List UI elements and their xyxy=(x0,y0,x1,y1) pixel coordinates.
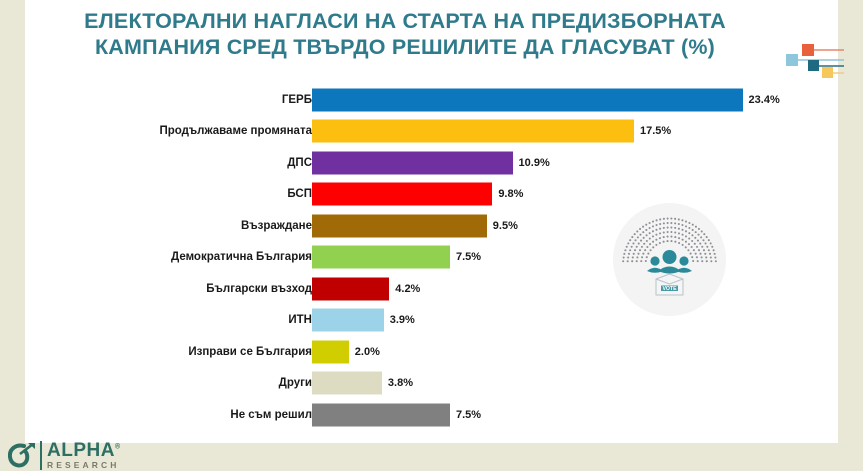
bar-row: Продължаваме промяната17.5% xyxy=(25,116,838,148)
bar-row: Български възход4.2% xyxy=(25,273,838,305)
bar-track xyxy=(312,151,513,174)
bar-category-label: Изправи се България xyxy=(188,346,312,358)
bar-value-label: 3.9% xyxy=(390,314,415,326)
bar-fill xyxy=(312,372,382,395)
bar-track xyxy=(312,183,492,206)
bar-row: Възраждане9.5% xyxy=(25,210,838,242)
bar-row: ИТН3.9% xyxy=(25,305,838,337)
bar-row: ДПС10.9% xyxy=(25,147,838,179)
bar-track xyxy=(312,214,487,237)
bar-fill xyxy=(312,88,743,111)
bar-value-label: 9.5% xyxy=(493,220,518,232)
bar-value-label: 7.5% xyxy=(456,409,481,421)
bar-value-label: 7.5% xyxy=(456,251,481,263)
bar-track xyxy=(312,277,389,300)
bar-track xyxy=(312,309,384,332)
horizontal-bar-chart: ГЕРБ23.4%Продължаваме промяната17.5%ДПС1… xyxy=(25,84,838,440)
bar-fill xyxy=(312,120,634,143)
bar-value-label: 17.5% xyxy=(640,125,671,137)
bar-value-label: 4.2% xyxy=(395,283,420,295)
page-title: ЕЛЕКТОРАЛНИ НАГЛАСИ НА СТАРТА НА ПРЕДИЗБ… xyxy=(25,8,785,60)
bar-category-label: Български възход xyxy=(206,283,312,295)
bar-value-label: 10.9% xyxy=(519,157,550,169)
logo-alpha-text: ALPHA® xyxy=(47,441,121,460)
bar-row: Демократична България7.5% xyxy=(25,242,838,274)
bar-row: БСП9.8% xyxy=(25,179,838,211)
bar-row: Други3.8% xyxy=(25,368,838,400)
bar-track xyxy=(312,340,349,363)
bar-fill xyxy=(312,277,389,300)
bar-fill xyxy=(312,214,487,237)
bar-value-label: 9.8% xyxy=(498,188,523,200)
bar-fill xyxy=(312,403,450,426)
bar-track xyxy=(312,88,743,111)
bar-value-label: 2.0% xyxy=(355,346,380,358)
slide-root: ЕЛЕКТОРАЛНИ НАГЛАСИ НА СТАРТА НА ПРЕДИЗБ… xyxy=(0,0,863,471)
bar-fill xyxy=(312,340,349,363)
logo-wordmark: ALPHA® RESEARCH xyxy=(40,441,121,470)
bar-category-label: Възраждане xyxy=(241,220,312,232)
title-line-2: КАМПАНИЯ СРЕД ТВЪРДО РЕШИЛИТЕ ДА ГЛАСУВА… xyxy=(25,34,785,60)
logo-alpha-label: ALPHA xyxy=(47,440,115,461)
bar-track xyxy=(312,120,634,143)
bar-fill xyxy=(312,151,513,174)
bar-category-label: Не съм решил xyxy=(230,409,312,421)
bar-track xyxy=(312,372,382,395)
sliders-icon xyxy=(786,38,846,82)
title-line-1: ЕЛЕКТОРАЛНИ НАГЛАСИ НА СТАРТА НА ПРЕДИЗБ… xyxy=(25,8,785,34)
bar-category-label: ДПС xyxy=(287,157,312,169)
alpha-logo-mark-icon xyxy=(8,442,38,470)
bar-category-label: БСП xyxy=(287,188,312,200)
bar-fill xyxy=(312,183,492,206)
bar-category-label: Демократична България xyxy=(171,251,312,263)
bar-row: ГЕРБ23.4% xyxy=(25,84,838,116)
bar-track xyxy=(312,246,450,269)
decorative-sliders-graphic xyxy=(786,38,846,82)
bar-fill xyxy=(312,246,450,269)
bar-category-label: Други xyxy=(279,377,312,389)
bar-row: Изправи се България2.0% xyxy=(25,336,838,368)
bar-track xyxy=(312,403,450,426)
bar-value-label: 23.4% xyxy=(749,94,780,106)
logo-research-label: RESEARCH xyxy=(47,461,121,470)
bar-category-label: ГЕРБ xyxy=(282,94,312,106)
registered-mark: ® xyxy=(115,444,121,451)
bar-category-label: ИТН xyxy=(288,314,312,326)
bar-category-label: Продължаваме промяната xyxy=(159,125,312,137)
bar-value-label: 3.8% xyxy=(388,377,413,389)
bar-fill xyxy=(312,309,384,332)
alpha-research-logo: ALPHA® RESEARCH xyxy=(8,440,158,471)
bar-row: Не съм решил7.5% xyxy=(25,399,838,431)
